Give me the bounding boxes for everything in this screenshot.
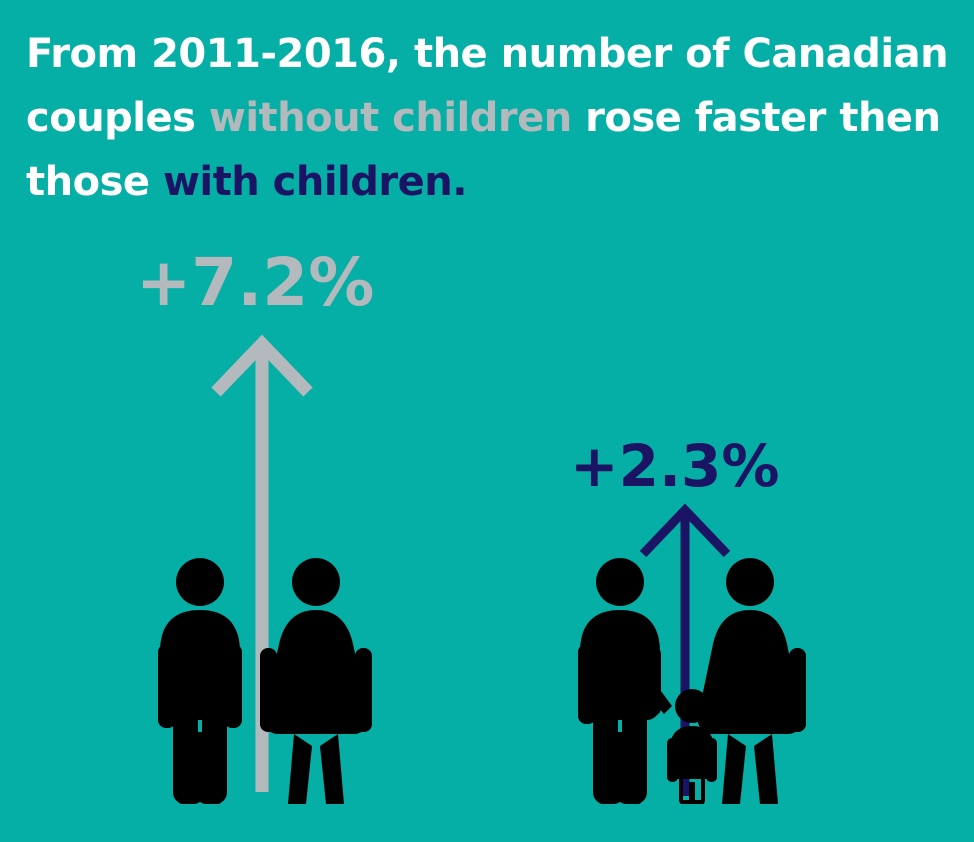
- page-title: From 2011-2016, the number of Canadian c…: [26, 22, 956, 214]
- headline-period: .: [452, 159, 467, 205]
- couple-without-children-pictogram: [148, 556, 388, 810]
- headline-emphasis-with-children: with children: [163, 159, 452, 205]
- bottom-band: [0, 804, 974, 842]
- infographic-canvas: From 2011-2016, the number of Canadian c…: [0, 0, 974, 842]
- left-value-label: +7.2%: [136, 244, 374, 321]
- headline-emphasis-without-children: without children: [209, 95, 572, 141]
- man-icon: [578, 558, 672, 804]
- woman-icon: [260, 558, 372, 804]
- couple-with-children-pictogram: [568, 556, 818, 810]
- right-value-label: +2.3%: [570, 432, 779, 500]
- man-icon: [158, 558, 242, 804]
